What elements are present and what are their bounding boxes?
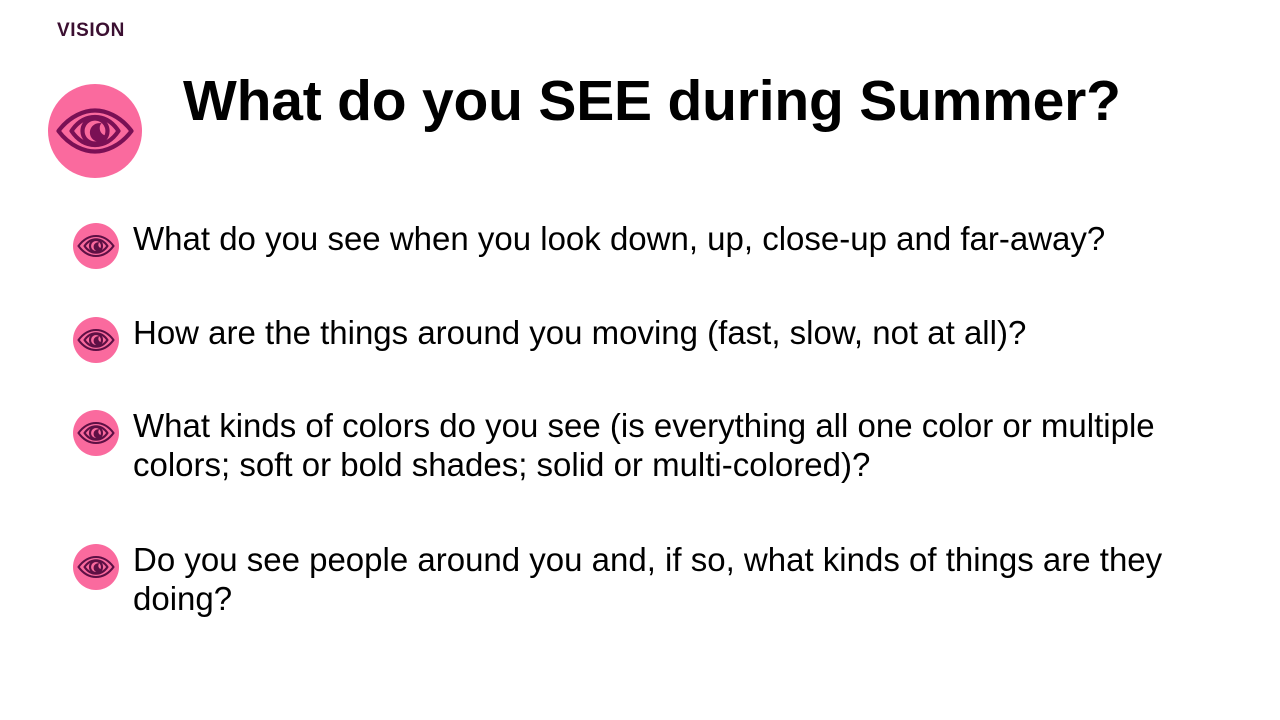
list-item: Do you see people around you and, if so,… [73,540,1248,618]
eye-icon [73,544,119,590]
list-item-label: What do you see when you look down, up, … [133,219,1243,258]
list-item: What do you see when you look down, up, … [73,219,1248,258]
list-item-label: What kinds of colors do you see (is ever… [133,406,1228,484]
eye-icon [73,317,119,363]
slide-canvas: VISION What do you SEE during Summer? [0,0,1280,720]
list-item: What kinds of colors do you see (is ever… [73,406,1248,484]
eye-icon [73,223,119,269]
eye-icon [73,410,119,456]
bullet-list: What do you see when you look down, up, … [0,0,1280,720]
list-item-label: Do you see people around you and, if so,… [133,540,1228,618]
list-item-label: How are the things around you moving (fa… [133,313,1243,352]
list-item: How are the things around you moving (fa… [73,313,1248,352]
